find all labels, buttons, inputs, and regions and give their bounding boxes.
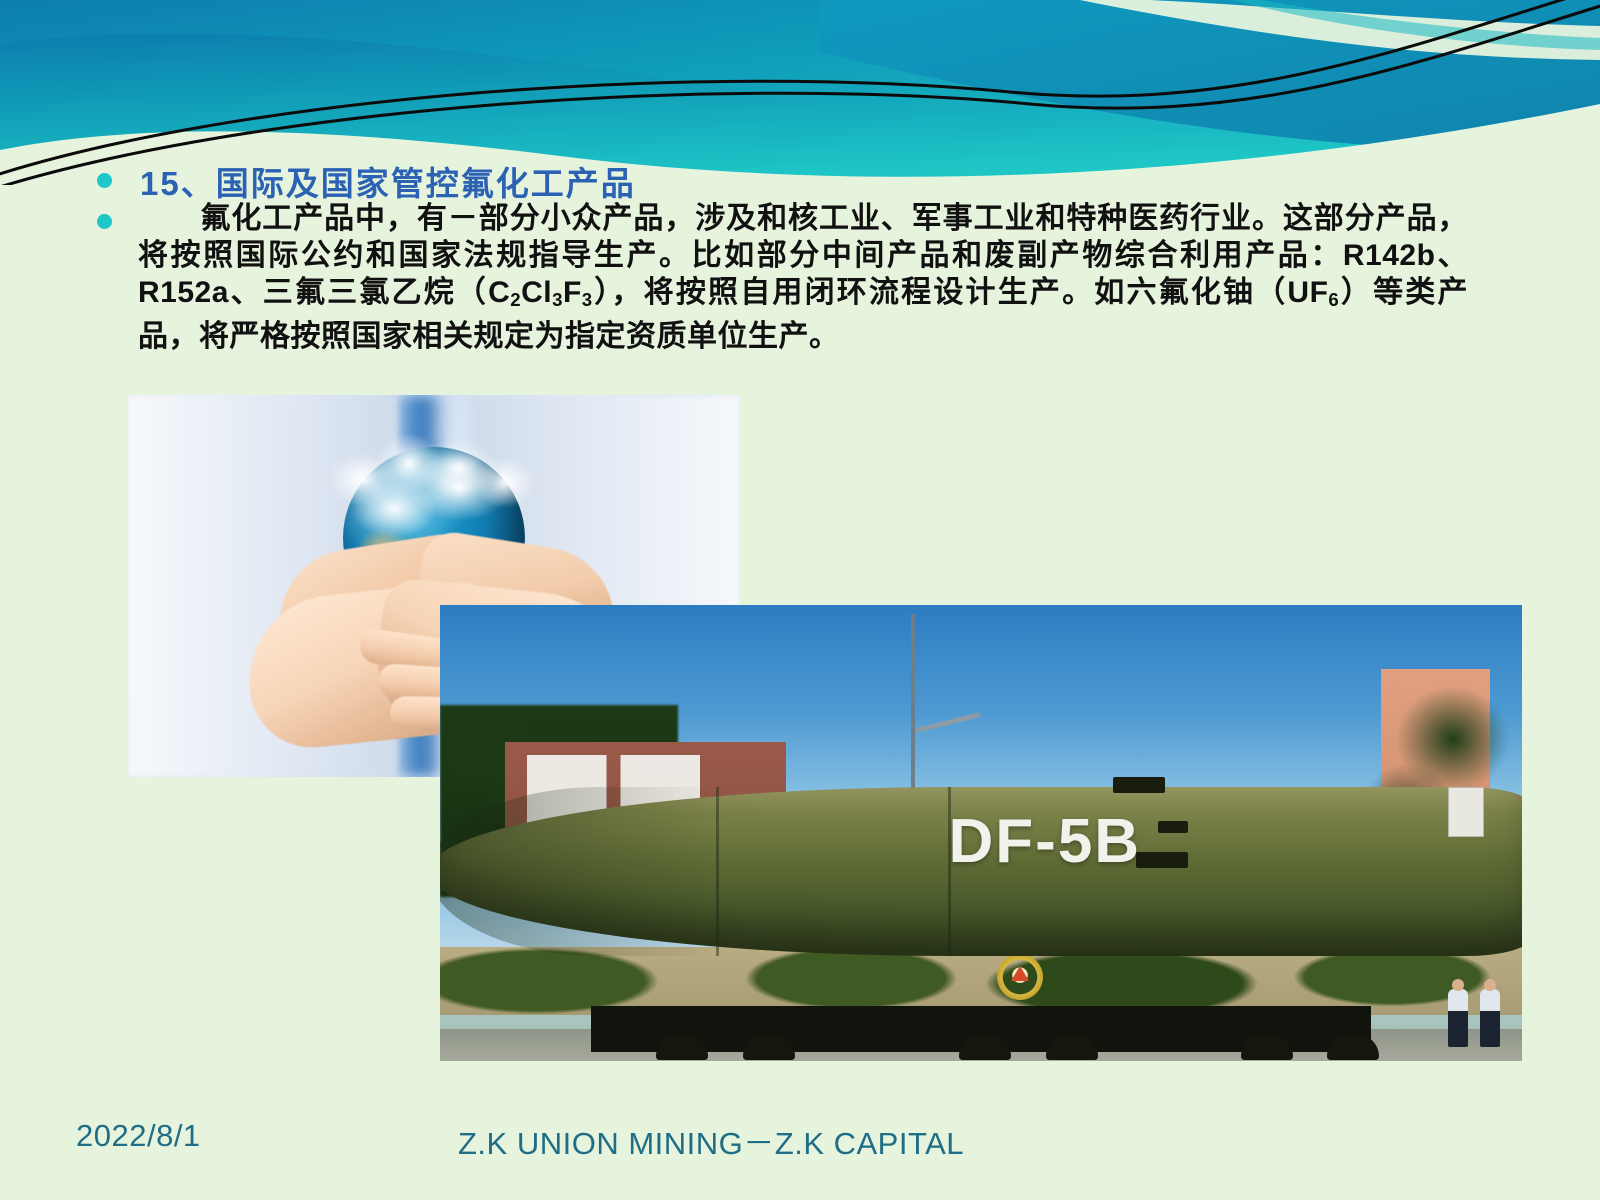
spectator-1-head [1452,979,1464,991]
globe-clouds [330,435,538,507]
footer-date: 2022/8/1 [76,1118,201,1154]
formula-c2cl3f3-sub-3b: 3 [582,289,593,310]
missile-hatch-lower [1136,852,1188,868]
bullet-title-marker [97,173,112,188]
spectator-1 [1448,989,1468,1047]
formula-c2cl3f3-sub-3: 3 [552,289,563,310]
missile-side-plate [1448,787,1484,837]
military-emblem-icon [997,954,1043,1000]
formula-c2cl3f3-f: F [563,276,582,309]
slide: 15、国际及国家管控氟化工产品 氟化工产品中，有－部分小众产品，涉及和核工业、军… [0,0,1600,1200]
spectator-2 [1480,989,1500,1047]
formula-uf6-sub-6: 6 [1328,289,1339,310]
spectator-2-head [1484,979,1496,991]
emblem-star-icon [1011,966,1029,981]
trailer-camouflage-panel [440,947,1522,1015]
formula-c2cl3f3-cl: Cl [521,276,552,309]
footer-organization: Z.K UNION MINING－Z.K CAPITAL [458,1118,964,1163]
missile-seam-1 [716,787,719,956]
image-df5b-missile: DF-5B [440,605,1522,1061]
missile-nose-shading [440,787,716,956]
paragraph-middle: ），将按照自用闭环流程设计生产。如六氟化铀（UF [593,276,1329,309]
missile-hatch-top [1113,777,1165,793]
body-paragraph: 氟化工产品中，有－部分小众产品，涉及和核工业、军事工业和特种医药行业。这部分产品… [138,200,1468,355]
missile-designation-label: DF-5B [949,806,1142,877]
page-title: 15、国际及国家管控氟化工产品 [140,157,636,205]
formula-c2cl3f3-sub-2: 2 [510,289,521,310]
bullet-body-marker [97,214,112,229]
missile-hatch-mid [1158,821,1188,833]
